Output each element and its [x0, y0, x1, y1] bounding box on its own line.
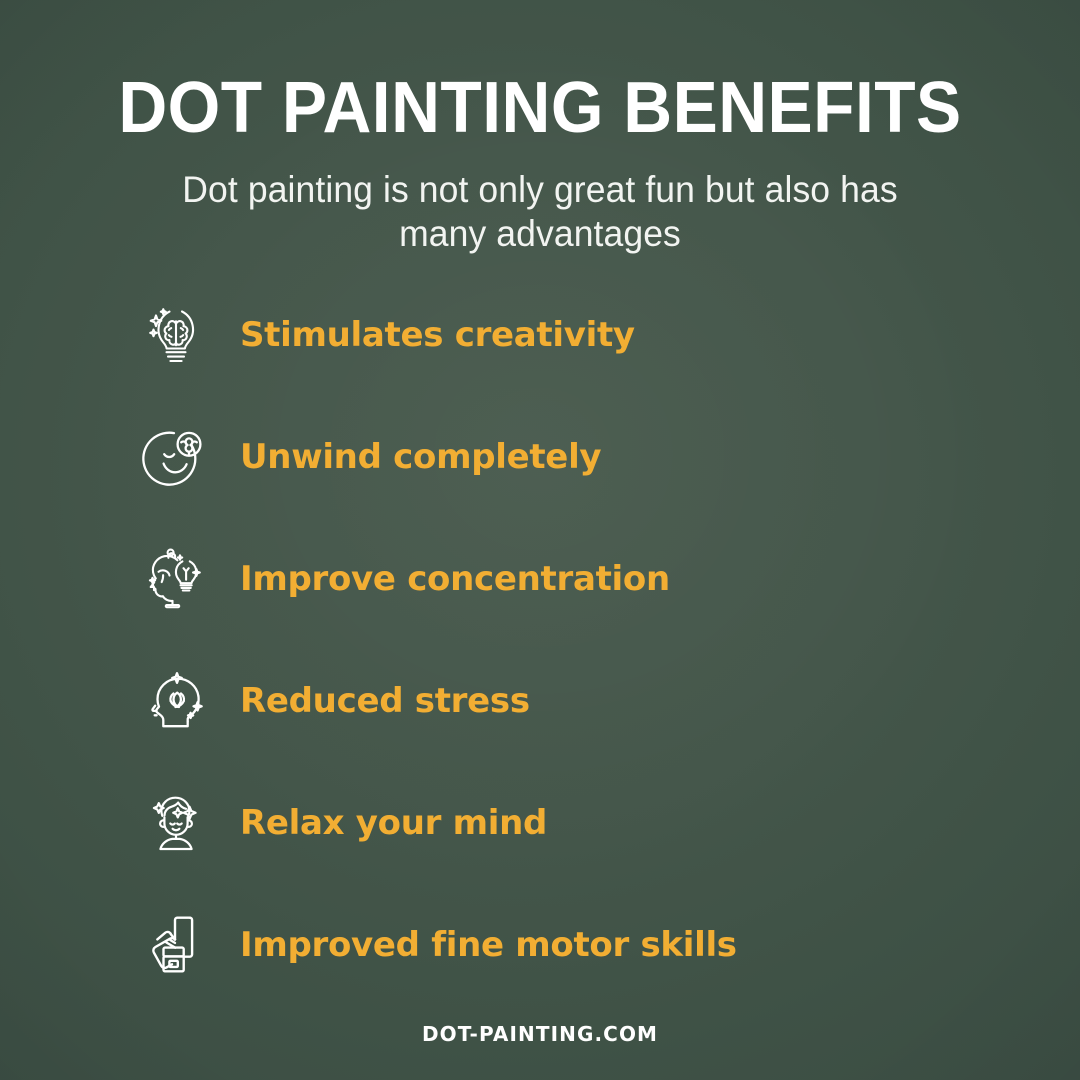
benefit-label: Improve concentration — [240, 559, 670, 599]
head-profile-lotus-icon — [140, 665, 212, 737]
lightbulb-brain-sparkles-icon — [140, 299, 212, 371]
list-item: Improved fine motor skills — [0, 896, 1080, 994]
benefit-label: Stimulates creativity — [240, 315, 635, 355]
list-item: Reduced stress — [0, 652, 1080, 750]
hand-holding-object-icon — [140, 909, 212, 981]
list-item: Improve concentration — [0, 530, 1080, 628]
page-title: DOT PAINTING BENEFITS — [32, 0, 1047, 144]
smiley-face-flower-icon — [140, 421, 212, 493]
benefit-label: Unwind completely — [240, 437, 601, 477]
list-item: Stimulates creativity — [0, 286, 1080, 384]
benefit-label: Relax your mind — [240, 803, 547, 843]
benefits-list: Stimulates creativity Unwind completely — [0, 286, 1080, 1018]
poster-canvas: DOT PAINTING BENEFITS Dot painting is no… — [0, 0, 1080, 1080]
page-subtitle: Dot painting is not only great fun but a… — [161, 144, 919, 255]
relaxed-face-stars-icon — [140, 787, 212, 859]
list-item: Relax your mind — [0, 774, 1080, 872]
head-profile-lightbulb-icon — [140, 543, 212, 615]
benefit-label: Improved fine motor skills — [240, 925, 737, 965]
list-item: Unwind completely — [0, 408, 1080, 506]
benefit-label: Reduced stress — [240, 681, 530, 721]
poster-header: DOT PAINTING BENEFITS Dot painting is no… — [0, 0, 1080, 255]
poster-footer: DOT-PAINTING.COM — [0, 1022, 1080, 1046]
website-url: DOT-PAINTING.COM — [422, 1022, 658, 1046]
